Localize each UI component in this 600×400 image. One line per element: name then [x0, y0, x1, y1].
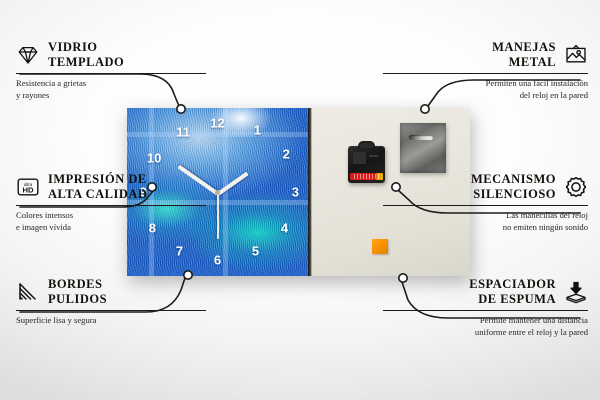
svg-text:HD: HD — [23, 185, 34, 194]
panel-edge — [308, 108, 312, 276]
feature-title: MECANISMO SILENCIOSO — [471, 172, 556, 202]
clock-numeral: 11 — [176, 126, 190, 139]
hanger-slot — [409, 135, 433, 140]
clock-numeral: 5 — [252, 245, 259, 258]
feature-bordes-pulidos: BORDES PULIDOS Superficie lisa y segura — [16, 277, 206, 327]
divider-rule — [16, 205, 206, 207]
clock-numeral: 10 — [147, 152, 161, 165]
mechanism-hanging-loop — [358, 141, 375, 148]
feature-subtitle: Colores intensos e imagen vívida — [16, 210, 206, 233]
feature-subtitle: Las manecillas del reloj no emiten ningú… — [383, 210, 588, 233]
feature-title: BORDES PULIDOS — [48, 277, 107, 307]
mechanism-label — [350, 173, 383, 180]
feature-title: ESPACIADOR DE ESPUMA — [469, 277, 556, 307]
clock-numeral: 2 — [283, 148, 290, 161]
clock-mechanism-box — [348, 146, 385, 183]
picture-frame-icon — [564, 43, 588, 67]
divider-rule — [383, 73, 588, 75]
feature-subtitle: Superficie lisa y segura — [16, 315, 206, 327]
divider-rule — [383, 205, 588, 207]
feature-mecanismo-silencioso: MECANISMO SILENCIOSO Las manecillas del … — [383, 172, 588, 233]
foam-spacer-icon — [564, 280, 588, 304]
gear-icon — [564, 175, 588, 199]
divider-rule — [383, 310, 588, 312]
foam-spacer-pad — [372, 239, 388, 254]
metal-hanger-plate — [400, 123, 446, 173]
feature-title: VIDRIO TEMPLADO — [48, 40, 124, 70]
feature-subtitle: Resistencia a grietas y rayones — [16, 78, 206, 101]
second-hand — [217, 193, 219, 239]
feature-vidrio-templado: VIDRIO TEMPLADO Resistencia a grietas y … — [16, 40, 206, 101]
clock-numeral: 7 — [176, 245, 183, 258]
mechanism-detail — [369, 155, 378, 157]
mechanism-detail — [353, 152, 366, 164]
hand-center-cap — [215, 190, 220, 195]
feature-manejas-metal: MANEJAS METAL Permiten una fácil instala… — [383, 40, 588, 101]
divider-rule — [16, 310, 206, 312]
infographic-canvas: 12 1 2 3 4 5 6 7 8 9 10 11 — [0, 0, 600, 400]
clock-numeral: 3 — [292, 186, 299, 199]
clock-numeral: 1 — [254, 124, 261, 137]
clock-numeral: 6 — [214, 254, 221, 267]
feature-title: MANEJAS METAL — [492, 40, 556, 70]
polished-edges-icon — [16, 280, 40, 304]
feature-subtitle: Permiten una fácil instalación del reloj… — [383, 78, 588, 101]
divider-rule — [16, 73, 206, 75]
ultra-hd-badge-icon: ultra HD — [16, 175, 40, 199]
feature-espaciador-de-espuma: ESPACIADOR DE ESPUMA Permite mantener un… — [383, 277, 588, 338]
clock-numeral: 12 — [210, 117, 224, 130]
feature-title: IMPRESIÓN DE ALTA CALIDAD — [48, 172, 147, 202]
clock-numeral: 4 — [281, 222, 288, 235]
feature-subtitle: Permite mantener una distancia uniforme … — [383, 315, 588, 338]
feature-impresion-alta-calidad: ultra HD IMPRESIÓN DE ALTA CALIDAD Color… — [16, 172, 206, 233]
diamond-icon — [16, 43, 40, 67]
